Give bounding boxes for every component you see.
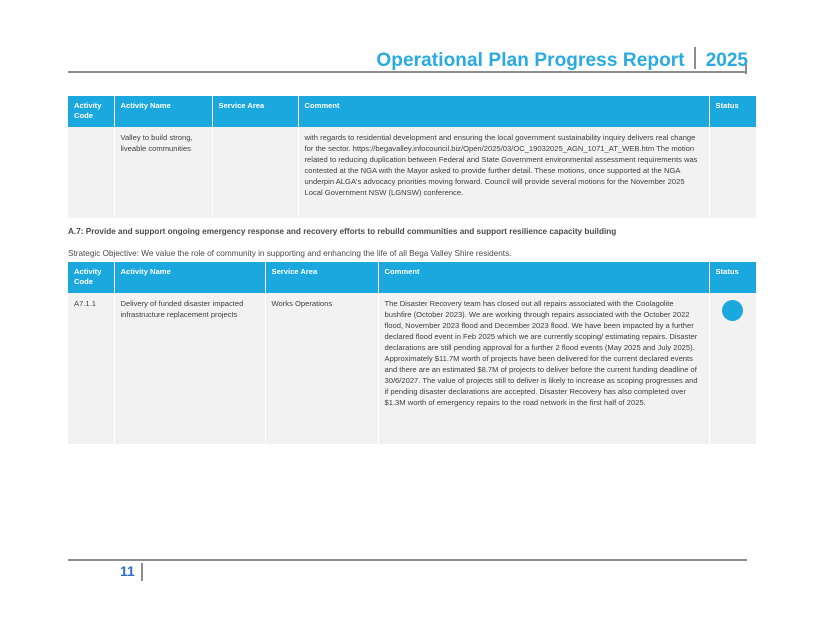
column-header-comment: Comment <box>378 262 709 293</box>
table-row: Valley to build strong, liveable communi… <box>68 127 756 218</box>
cell-comment: with regards to residential development … <box>298 127 709 218</box>
column-header-status: Status <box>709 96 756 127</box>
footer-rule <box>68 559 747 561</box>
column-header-service-area: Service Area <box>212 96 298 127</box>
cell-activity-name: Valley to build strong, liveable communi… <box>114 127 212 218</box>
table-header-row: Activity Code Activity Name Service Area… <box>68 96 756 127</box>
cell-activity-code <box>68 127 114 218</box>
objective-heading: A.7: Provide and support ongoing emergen… <box>68 226 758 237</box>
cell-activity-code: A7.1.1 <box>68 293 114 444</box>
column-header-activity-code: Activity Code <box>68 262 114 293</box>
table-row: A7.1.1 Delivery of funded disaster impac… <box>68 293 756 444</box>
header-rule <box>68 71 747 73</box>
page-number: 11 <box>120 564 135 578</box>
cell-service-area <box>212 127 298 218</box>
footer-divider <box>141 563 143 581</box>
column-header-activity-name: Activity Name <box>114 262 265 293</box>
header-year: 2025 <box>696 51 748 70</box>
cell-status <box>709 127 756 218</box>
section-heading-block: A.7: Provide and support ongoing emergen… <box>68 226 758 260</box>
activity-table-continued: Activity Code Activity Name Service Area… <box>68 96 756 218</box>
page-title: Operational Plan Progress Report <box>376 51 693 70</box>
column-header-service-area: Service Area <box>265 262 378 293</box>
cell-status <box>709 293 756 444</box>
column-header-activity-name: Activity Name <box>114 96 212 127</box>
page-header: Operational Plan Progress Report 2025 <box>68 38 748 70</box>
cell-comment: The Disaster Recovery team has closed ou… <box>378 293 709 444</box>
table-header-row: Activity Code Activity Name Service Area… <box>68 262 756 293</box>
strategic-objective-text: Strategic Objective: We value the role o… <box>68 248 758 259</box>
column-header-status: Status <box>709 262 756 293</box>
column-header-activity-code: Activity Code <box>68 96 114 127</box>
column-header-comment: Comment <box>298 96 709 127</box>
header-rule-end-tick <box>745 64 747 74</box>
cell-activity-name: Delivery of funded disaster impacted inf… <box>114 293 265 444</box>
status-badge-circle-icon <box>722 300 743 321</box>
cell-service-area: Works Operations <box>265 293 378 444</box>
activity-table-a7: Activity Code Activity Name Service Area… <box>68 262 756 444</box>
